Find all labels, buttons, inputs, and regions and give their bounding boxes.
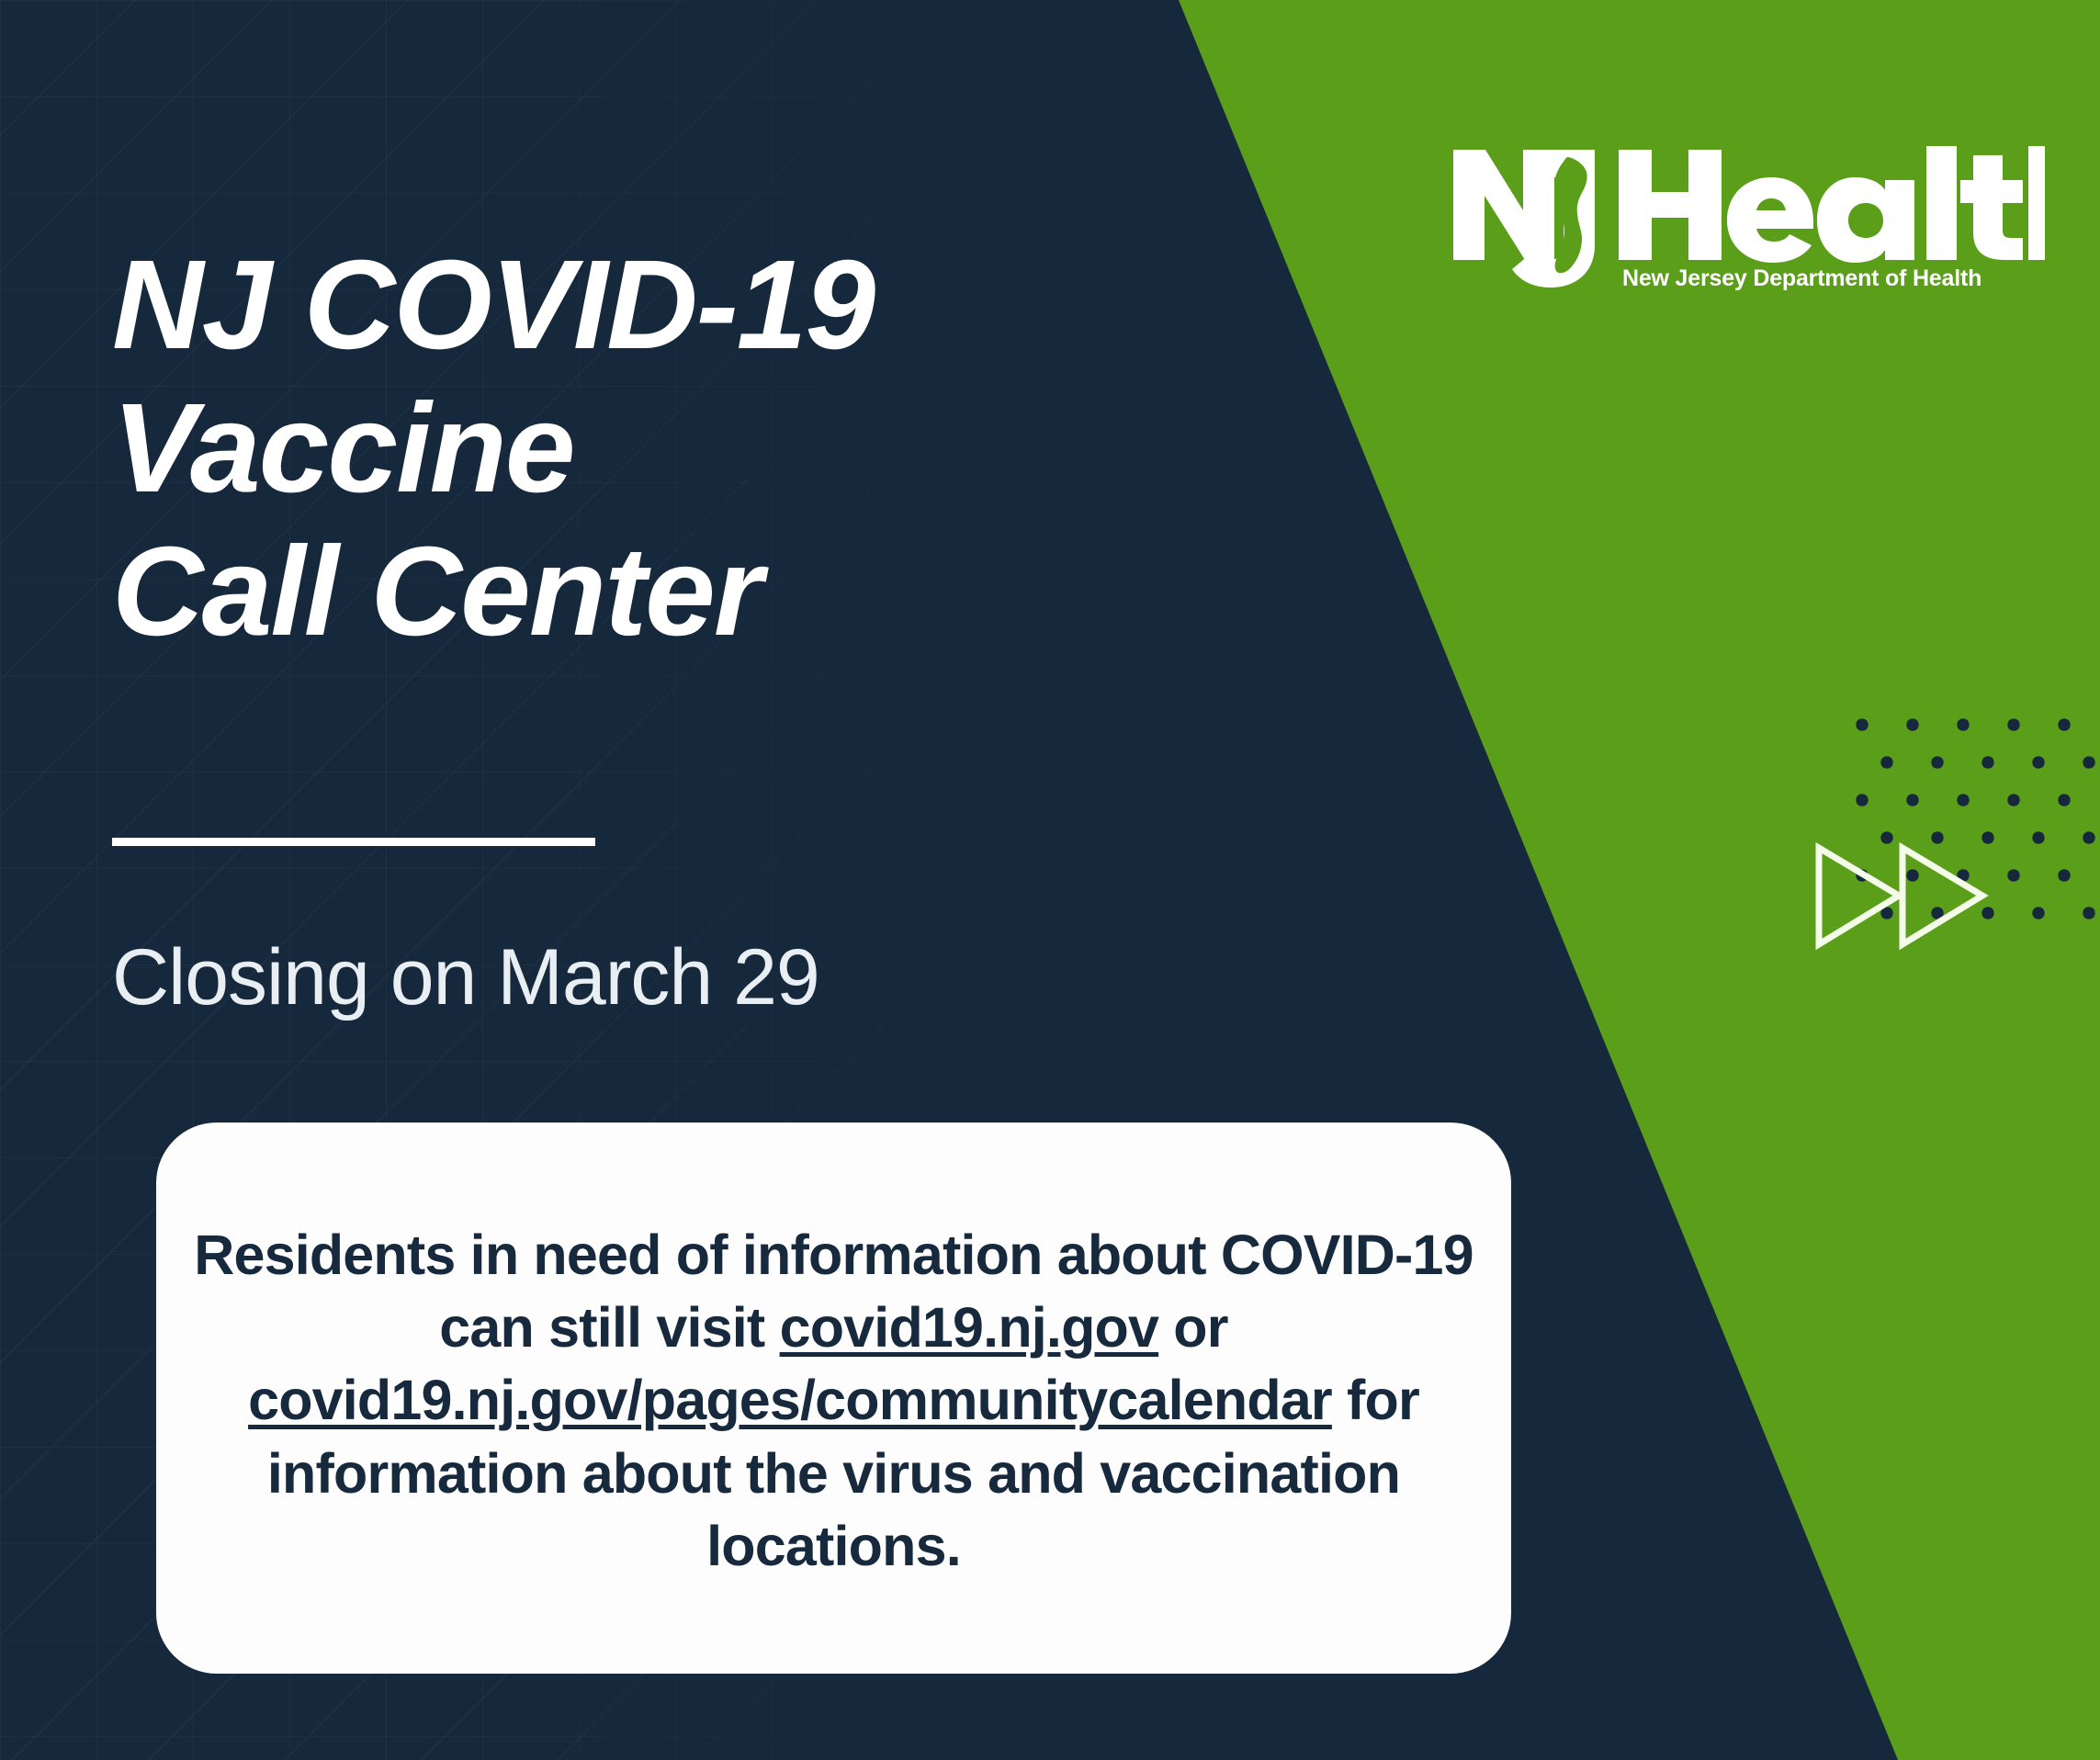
poster-canvas: New Jersey Department of Health NJ COVID… <box>0 0 2100 1760</box>
card-link-3[interactable]: covid19.nj.gov/pages/communitycalendar <box>248 1369 1332 1431</box>
info-card: Residents in need of information about C… <box>156 1123 1511 1674</box>
subtitle: Closing on March 29 <box>112 932 819 1023</box>
info-card-text: Residents in need of information about C… <box>191 1219 1476 1583</box>
page-title: NJ COVID-19 Vaccine Call Center <box>112 234 1159 664</box>
title-line-1: NJ COVID-19 <box>112 234 1159 378</box>
card-text-run-2: or <box>1158 1296 1228 1359</box>
card-link-1[interactable]: covid19.nj.gov <box>780 1296 1159 1359</box>
nj-health-logo: New Jersey Department of Health <box>1448 142 2045 294</box>
title-line-2: Vaccine <box>112 378 1159 521</box>
title-line-3: Call Center <box>112 521 1159 664</box>
title-divider <box>112 838 595 846</box>
svg-text:New Jersey Department of Healt: New Jersey Department of Health <box>1622 265 1981 291</box>
